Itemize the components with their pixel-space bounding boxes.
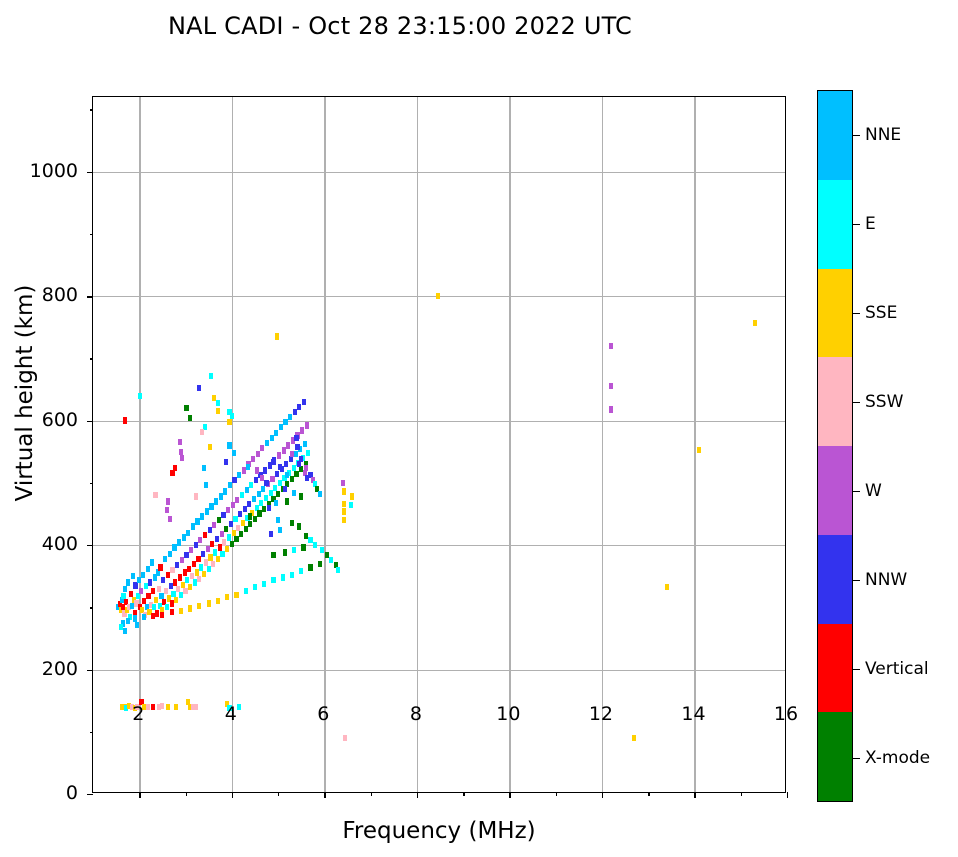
colorbar-label-x-mode: X-mode <box>865 748 930 768</box>
gridline-vertical <box>417 97 418 792</box>
data-point <box>262 506 266 512</box>
y-tick <box>87 794 93 795</box>
data-point <box>244 526 248 532</box>
data-point <box>179 592 183 598</box>
x-tick <box>371 792 372 796</box>
data-point <box>217 517 221 523</box>
data-point <box>303 441 307 447</box>
y-tick <box>87 421 93 422</box>
colorbar-tick <box>853 135 860 136</box>
data-point <box>269 531 273 537</box>
data-point <box>283 419 287 425</box>
colorbar-segment-x-mode <box>818 712 852 801</box>
colorbar-label-e: E <box>865 214 876 234</box>
data-point <box>305 475 309 481</box>
y-axis-label: Virtual height (km) <box>12 143 38 643</box>
data-point <box>126 618 130 624</box>
data-point <box>318 561 322 567</box>
data-point <box>308 537 312 543</box>
y-tick <box>87 545 93 546</box>
data-point <box>276 491 280 497</box>
y-tick-label: 400 <box>42 533 78 555</box>
data-point <box>177 539 181 545</box>
data-point <box>254 477 258 483</box>
data-point <box>188 584 192 590</box>
y-tick <box>90 732 94 733</box>
data-point <box>212 522 216 528</box>
colorbar-label-nne: NNE <box>865 125 901 145</box>
data-point <box>170 567 174 573</box>
gridline-vertical <box>694 97 695 792</box>
data-point <box>228 482 232 488</box>
colorbar-segment-nne <box>818 91 852 180</box>
data-point <box>343 735 347 741</box>
data-point <box>179 608 183 614</box>
data-point <box>297 461 301 467</box>
data-point <box>131 573 135 579</box>
data-point <box>194 704 198 710</box>
data-point <box>248 513 252 519</box>
data-point <box>164 588 168 594</box>
data-point <box>196 556 200 562</box>
data-point <box>234 592 238 598</box>
data-point <box>318 491 322 497</box>
data-point <box>150 559 154 565</box>
ionogram-figure: NAL CADI - Oct 28 23:15:00 2022 UTC Freq… <box>0 0 958 857</box>
data-point <box>193 579 197 585</box>
y-tick <box>87 296 93 297</box>
data-point <box>244 588 248 594</box>
x-tick <box>186 792 187 796</box>
y-tick-label: 200 <box>42 658 78 680</box>
data-point <box>194 493 198 499</box>
data-point <box>342 488 346 494</box>
colorbar-label-ssw: SSW <box>865 392 903 412</box>
data-point <box>293 409 297 415</box>
colorbar-tick <box>853 580 860 581</box>
data-point <box>165 507 169 513</box>
data-point <box>166 572 170 578</box>
data-point <box>301 544 305 550</box>
x-tick <box>139 792 140 798</box>
data-point <box>180 557 184 563</box>
y-tick <box>90 234 94 235</box>
data-point <box>208 527 212 533</box>
y-tick-label: 800 <box>42 284 78 306</box>
data-point <box>290 476 294 482</box>
data-point <box>151 704 155 710</box>
data-point <box>148 579 152 585</box>
x-tick-label: 10 <box>496 703 520 725</box>
data-point <box>262 581 266 587</box>
x-tick-label: 12 <box>589 703 613 725</box>
data-point <box>238 511 242 517</box>
data-point <box>195 518 199 524</box>
data-point <box>294 451 298 457</box>
data-point <box>146 704 150 710</box>
data-point <box>169 583 173 589</box>
data-point <box>197 576 201 582</box>
data-point <box>209 503 213 509</box>
data-point <box>350 493 354 499</box>
data-point <box>264 480 268 486</box>
colorbar <box>817 90 853 802</box>
data-point <box>202 465 206 471</box>
data-point <box>206 546 210 552</box>
data-point <box>294 471 298 477</box>
data-point <box>342 508 346 514</box>
data-point <box>168 551 172 557</box>
data-point <box>299 493 303 499</box>
data-point <box>237 704 241 710</box>
data-point <box>186 530 190 536</box>
data-point <box>275 471 279 477</box>
data-point <box>300 427 304 433</box>
data-point <box>168 516 172 522</box>
data-point <box>226 507 230 513</box>
data-point <box>151 613 155 619</box>
data-point <box>208 444 212 450</box>
data-point <box>252 496 256 502</box>
colorbar-tick <box>853 224 860 225</box>
data-point <box>160 612 164 618</box>
x-tick <box>787 792 788 798</box>
data-point <box>170 600 174 606</box>
x-tick-label: 4 <box>225 703 237 725</box>
data-point <box>288 414 292 420</box>
data-point <box>279 424 283 430</box>
data-point <box>275 333 279 339</box>
data-point <box>265 440 269 446</box>
data-point <box>342 501 346 507</box>
data-point <box>178 439 182 445</box>
data-point <box>308 564 312 570</box>
data-point <box>290 451 294 457</box>
x-tick <box>556 792 557 796</box>
data-point <box>283 486 287 492</box>
data-point <box>142 614 146 620</box>
data-point <box>146 566 150 572</box>
x-axis-label: Frequency (MHz) <box>92 818 786 844</box>
data-point <box>753 320 757 326</box>
data-point <box>172 544 176 550</box>
colorbar-tick <box>853 313 860 314</box>
data-point <box>183 569 187 575</box>
colorbar-label-sse: SSE <box>865 303 897 323</box>
data-point <box>342 517 346 523</box>
colorbar-segment-ssw <box>818 357 852 446</box>
data-point <box>184 405 188 411</box>
data-point <box>325 552 329 558</box>
data-point <box>336 567 340 573</box>
data-point <box>146 593 150 599</box>
data-point <box>187 566 191 572</box>
x-tick <box>324 792 325 798</box>
data-point <box>198 537 202 543</box>
colorbar-segment-w <box>818 446 852 535</box>
data-point <box>189 547 193 553</box>
data-point <box>133 615 137 621</box>
data-point <box>202 571 206 577</box>
data-point <box>139 588 143 594</box>
colorbar-segment-nnw <box>818 535 852 624</box>
data-point <box>188 415 192 421</box>
data-point <box>184 552 188 558</box>
data-point <box>182 534 186 540</box>
data-point <box>234 536 238 542</box>
gridline-vertical <box>139 97 140 792</box>
data-point <box>227 442 231 448</box>
x-tick <box>509 792 510 798</box>
colorbar-label-vertical: Vertical <box>865 659 929 679</box>
y-tick-label: 0 <box>66 782 78 804</box>
data-point <box>183 588 187 594</box>
data-point <box>270 476 274 482</box>
data-point <box>197 603 201 609</box>
colorbar-tick <box>853 491 860 492</box>
data-point <box>135 622 139 628</box>
data-point <box>180 455 184 461</box>
data-point <box>278 527 282 533</box>
data-point <box>313 542 317 548</box>
x-tick-label: 16 <box>774 703 798 725</box>
x-tick <box>741 792 742 796</box>
data-point <box>161 577 165 583</box>
data-point <box>248 521 252 527</box>
gridline-vertical <box>602 97 603 792</box>
colorbar-label-nnw: NNW <box>865 570 907 590</box>
colorbar-tick <box>853 402 860 403</box>
data-point <box>207 600 211 606</box>
data-point <box>292 547 296 553</box>
data-point <box>249 482 253 488</box>
data-point <box>290 572 294 578</box>
data-point <box>216 408 220 414</box>
data-point <box>284 461 288 467</box>
data-point <box>665 584 669 590</box>
data-point <box>123 586 127 592</box>
data-point <box>188 605 192 611</box>
data-point <box>276 517 280 523</box>
data-point <box>133 582 137 588</box>
data-point <box>230 541 234 547</box>
data-point <box>233 516 237 522</box>
data-point <box>207 566 211 572</box>
colorbar-segment-sse <box>818 269 852 358</box>
data-point <box>261 486 265 492</box>
data-point <box>281 574 285 580</box>
data-point <box>285 498 289 504</box>
data-point <box>251 456 255 462</box>
data-point <box>245 487 249 493</box>
y-tick <box>90 109 94 110</box>
data-point <box>292 490 296 496</box>
data-point <box>285 472 289 478</box>
data-point <box>271 552 275 558</box>
data-point <box>329 557 333 563</box>
data-point <box>223 488 227 494</box>
data-point <box>231 502 235 508</box>
data-point <box>123 628 127 634</box>
x-tick-label: 6 <box>317 703 329 725</box>
data-point <box>174 597 178 603</box>
data-point <box>204 482 208 488</box>
y-tick <box>90 607 94 608</box>
data-point <box>210 541 214 547</box>
x-tick <box>463 792 464 796</box>
data-point <box>123 417 127 423</box>
data-point <box>174 704 178 710</box>
gridline-horizontal <box>93 421 785 422</box>
data-point <box>277 452 281 458</box>
x-tick <box>232 792 233 798</box>
data-point <box>216 598 220 604</box>
data-point <box>221 512 225 518</box>
data-point <box>304 533 308 539</box>
x-tick <box>602 792 603 798</box>
data-point <box>286 442 290 448</box>
data-point <box>151 588 155 594</box>
data-point <box>274 430 278 436</box>
data-point <box>224 459 228 465</box>
gridline-vertical <box>509 97 510 792</box>
data-point <box>302 399 306 405</box>
data-point <box>290 520 294 526</box>
data-point <box>240 492 244 498</box>
data-point <box>341 480 345 486</box>
data-point <box>609 406 613 412</box>
data-point <box>260 445 264 451</box>
colorbar-tick <box>853 669 860 670</box>
x-tick <box>694 792 695 798</box>
data-point <box>220 551 224 557</box>
data-point <box>141 572 145 578</box>
data-point <box>235 497 239 503</box>
data-point <box>246 464 250 470</box>
data-point <box>247 501 251 507</box>
data-point <box>282 447 286 453</box>
data-point <box>255 467 259 473</box>
x-tick-label: 2 <box>132 703 144 725</box>
data-point <box>436 293 440 299</box>
data-point <box>166 704 170 710</box>
data-point <box>697 447 701 453</box>
data-point <box>203 532 207 538</box>
y-tick <box>87 670 93 671</box>
data-point <box>283 549 287 555</box>
data-point <box>160 703 164 709</box>
data-point <box>260 475 264 481</box>
data-point <box>278 464 282 470</box>
data-point <box>138 393 142 399</box>
data-point <box>294 435 298 441</box>
data-point <box>175 562 179 568</box>
data-point <box>191 523 195 529</box>
data-point <box>305 422 309 428</box>
data-point <box>274 500 278 506</box>
data-point <box>225 546 229 552</box>
data-point <box>185 577 189 583</box>
data-point <box>200 513 204 519</box>
y-tick <box>90 483 94 484</box>
gridline-vertical <box>232 97 233 792</box>
data-point <box>224 526 228 532</box>
data-point <box>253 516 257 522</box>
data-point <box>253 584 257 590</box>
data-point <box>219 493 223 499</box>
x-tick <box>648 792 649 796</box>
data-point <box>257 491 261 497</box>
colorbar-tick <box>853 758 860 759</box>
data-point <box>270 435 274 441</box>
data-point <box>320 547 324 553</box>
data-point <box>257 510 261 516</box>
data-point <box>239 531 243 537</box>
data-point <box>130 603 134 609</box>
colorbar-segment-e <box>818 180 852 269</box>
data-point <box>243 506 247 512</box>
data-point <box>609 343 613 349</box>
data-point <box>216 556 220 562</box>
data-point <box>216 400 220 406</box>
x-tick-label: 8 <box>410 703 422 725</box>
data-point <box>215 536 219 542</box>
data-point <box>295 444 299 450</box>
data-point <box>201 551 205 557</box>
data-point <box>297 523 301 529</box>
x-tick <box>417 792 418 798</box>
page-title: NAL CADI - Oct 28 23:15:00 2022 UTC <box>0 12 800 40</box>
data-point <box>237 472 241 478</box>
data-point <box>299 568 303 574</box>
data-point <box>178 574 182 580</box>
data-point <box>232 477 236 483</box>
data-point <box>205 508 209 514</box>
data-point <box>297 404 301 410</box>
data-point <box>232 450 236 456</box>
data-point <box>163 556 167 562</box>
data-point <box>271 459 275 465</box>
data-point <box>609 383 613 389</box>
data-point <box>157 586 161 592</box>
gridline-horizontal <box>93 172 785 173</box>
colorbar-label-w: W <box>865 481 882 501</box>
data-point <box>306 450 310 456</box>
data-point <box>126 579 130 585</box>
data-point <box>194 542 198 548</box>
colorbar-segment-vertical <box>818 624 852 713</box>
plot-axes <box>92 96 786 793</box>
data-point <box>227 419 231 425</box>
data-point <box>209 373 213 379</box>
data-point <box>166 498 170 504</box>
data-point <box>170 609 174 615</box>
x-tick <box>278 792 279 796</box>
data-point <box>153 492 157 498</box>
data-point <box>632 735 636 741</box>
data-point <box>170 470 174 476</box>
gridline-horizontal <box>93 670 785 671</box>
data-point <box>197 385 201 391</box>
y-tick <box>90 358 94 359</box>
data-point <box>220 531 224 537</box>
data-point <box>192 561 196 567</box>
data-point <box>165 604 169 610</box>
x-tick-label: 14 <box>681 703 705 725</box>
data-point <box>256 451 260 457</box>
data-point <box>200 429 204 435</box>
data-point <box>349 502 353 508</box>
